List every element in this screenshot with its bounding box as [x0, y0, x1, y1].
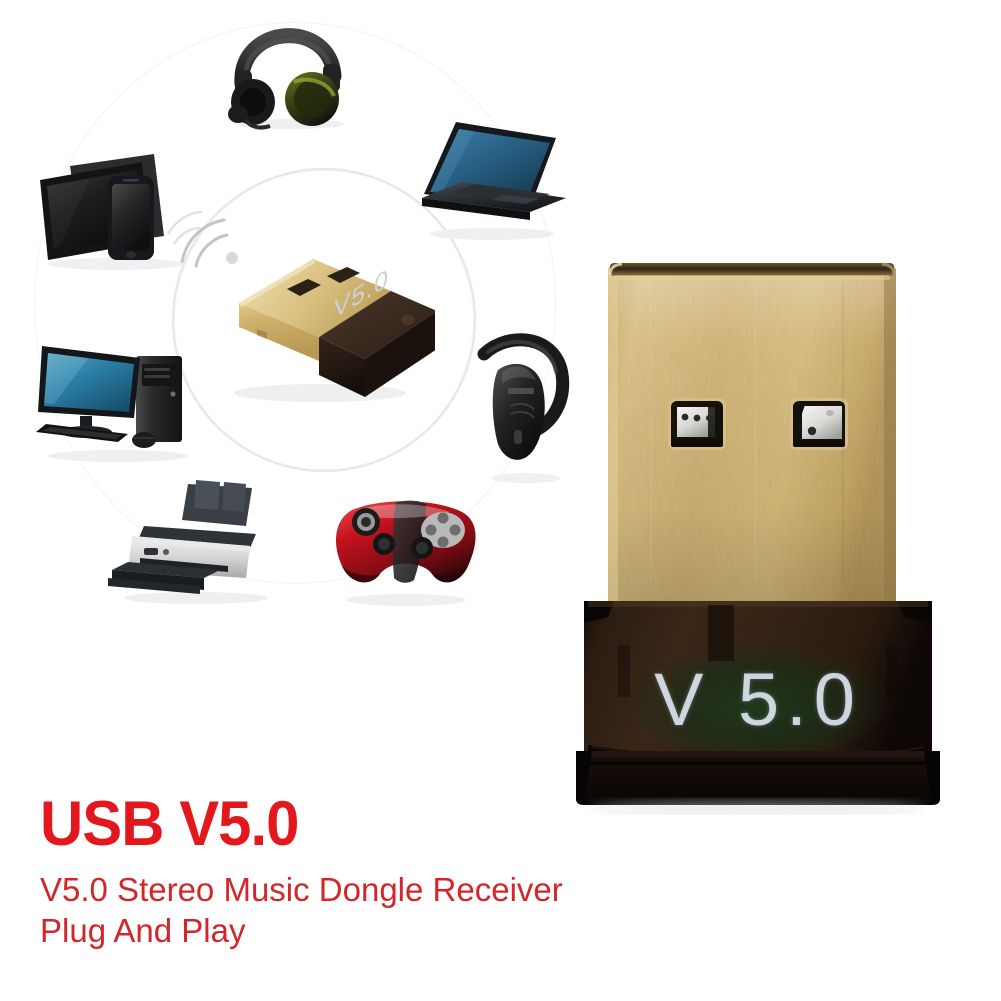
usb-contact-window-right [790, 398, 848, 450]
marketing-text-block: USB V5.0 V5.0 Stereo Music Dongle Receiv… [40, 793, 900, 952]
device-icon-game-controller [322, 482, 490, 608]
compatible-devices-ring: V5.0 [0, 0, 600, 650]
mini-dongle-illustration: V5.0 [195, 245, 435, 405]
main-product-photo-usb-dongle: V 5.0 V 5.0 [558, 245, 958, 815]
page-title: USB V5.0 [40, 793, 857, 856]
subtitle-line-1: V5.0 Stereo Music Dongle Receiver [40, 870, 900, 911]
device-icon-tablet-and-smartphone [30, 142, 205, 272]
device-icon-printer [104, 474, 284, 606]
dongle-body: V 5.0 V 5.0 [584, 601, 932, 763]
usb-contact-window-left [668, 398, 726, 450]
usb-connector [608, 263, 896, 610]
dongle-version-text-glow: V 5.0 [654, 658, 862, 741]
product-image-canvas: V5.0 [0, 0, 1001, 1001]
subtitle-line-2: Plug And Play [40, 911, 900, 952]
device-icon-laptop [404, 112, 574, 242]
device-icon-gaming-headset [208, 2, 368, 130]
device-icon-desktop-computer [32, 332, 204, 464]
